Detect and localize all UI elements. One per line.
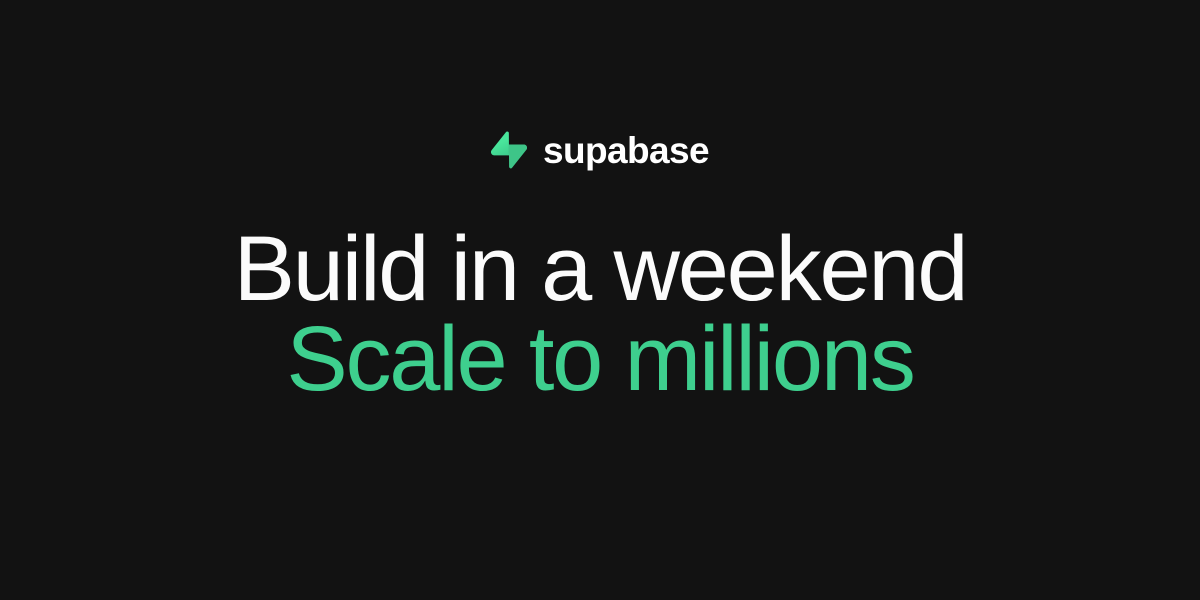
supabase-bolt-icon xyxy=(491,130,527,170)
brand-lockup[interactable]: supabase xyxy=(491,124,709,176)
headline-line-1: Build in a weekend xyxy=(234,224,967,314)
page-title: Build in a weekend Scale to millions xyxy=(234,224,967,404)
headline-line-2: Scale to millions xyxy=(234,314,967,404)
brand-wordmark: supabase xyxy=(543,132,709,169)
hero-section: supabase Build in a weekend Scale to mil… xyxy=(0,0,1200,600)
